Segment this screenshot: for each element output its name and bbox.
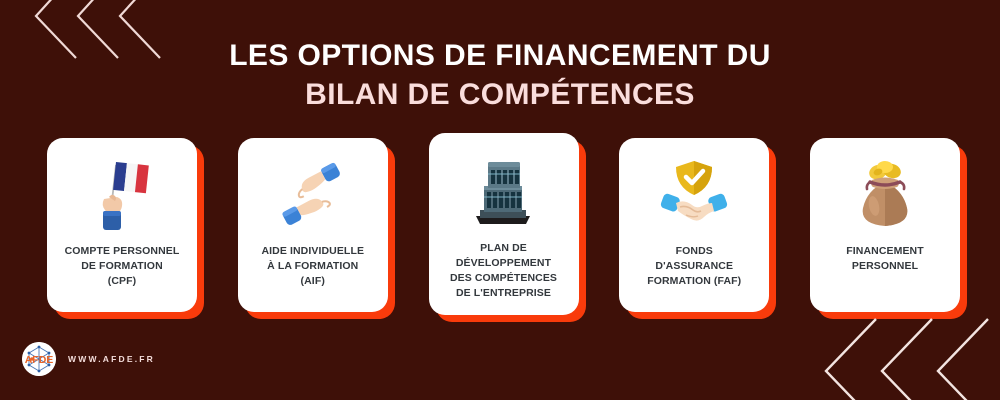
shield-check-handshake-icon	[627, 152, 761, 238]
two-reaching-hands-icon	[246, 152, 380, 238]
office-building-icon	[437, 147, 571, 235]
financing-options-list: COMPTE PERSONNEL DE FORMATION (CPF)	[47, 138, 967, 318]
card-surface: AIDE INDIVIDUELLE À LA FORMATION (AIF)	[238, 138, 388, 312]
footer-brand: AFDE WWW.AFDE.FR	[22, 342, 155, 376]
label-line: À LA FORMATION	[261, 259, 364, 274]
chevron-left-group-icon-bottom-right	[814, 309, 994, 400]
money-bag-coins-icon	[818, 152, 952, 238]
hand-holding-french-flag-icon	[55, 152, 189, 238]
afde-logo-text: AFDE	[25, 354, 54, 366]
card-faf[interactable]: FONDS D'ASSURANCE FORMATION (FAF)	[619, 138, 776, 312]
card-label: PLAN DE DÉVELOPPEMENT DES COMPÉTENCES DE…	[450, 241, 557, 301]
card-aif[interactable]: AIDE INDIVIDUELLE À LA FORMATION (AIF)	[238, 138, 395, 312]
label-line: DE FORMATION	[65, 259, 180, 274]
label-line: FINANCEMENT	[846, 244, 924, 259]
title-line-1: LES OPTIONS DE FINANCEMENT DU	[0, 38, 1000, 73]
card-label: FONDS D'ASSURANCE FORMATION (FAF)	[647, 244, 741, 289]
card-financement-personnel[interactable]: FINANCEMENT PERSONNEL	[810, 138, 967, 312]
card-surface: FINANCEMENT PERSONNEL	[810, 138, 960, 312]
label-line: D'ASSURANCE	[647, 259, 741, 274]
card-label: COMPTE PERSONNEL DE FORMATION (CPF)	[65, 244, 180, 289]
label-line: DE L'ENTREPRISE	[450, 286, 557, 301]
afde-logo-icon: AFDE	[22, 342, 56, 376]
card-surface: FONDS D'ASSURANCE FORMATION (FAF)	[619, 138, 769, 312]
label-line: (CPF)	[65, 274, 180, 289]
page-title: LES OPTIONS DE FINANCEMENT DU BILAN DE C…	[0, 38, 1000, 113]
card-cpf[interactable]: COMPTE PERSONNEL DE FORMATION (CPF)	[47, 138, 204, 312]
card-surface: PLAN DE DÉVELOPPEMENT DES COMPÉTENCES DE…	[429, 133, 579, 315]
label-line: PERSONNEL	[846, 259, 924, 274]
card-label: FINANCEMENT PERSONNEL	[846, 244, 924, 274]
label-line: (AIF)	[261, 274, 364, 289]
label-line: COMPTE PERSONNEL	[65, 244, 180, 259]
card-surface: COMPTE PERSONNEL DE FORMATION (CPF)	[47, 138, 197, 312]
card-plan-developpement[interactable]: PLAN DE DÉVELOPPEMENT DES COMPÉTENCES DE…	[429, 133, 586, 315]
label-line: PLAN DE	[450, 241, 557, 256]
label-line: FORMATION (FAF)	[647, 274, 741, 289]
label-line: DES COMPÉTENCES	[450, 271, 557, 286]
label-line: AIDE INDIVIDUELLE	[261, 244, 364, 259]
card-label: AIDE INDIVIDUELLE À LA FORMATION (AIF)	[261, 244, 364, 289]
label-line: FONDS	[647, 244, 741, 259]
label-line: DÉVELOPPEMENT	[450, 256, 557, 271]
infographic-canvas: LES OPTIONS DE FINANCEMENT DU BILAN DE C…	[0, 0, 1000, 400]
website-url[interactable]: WWW.AFDE.FR	[68, 354, 155, 364]
title-line-2: BILAN DE COMPÉTENCES	[0, 77, 1000, 112]
